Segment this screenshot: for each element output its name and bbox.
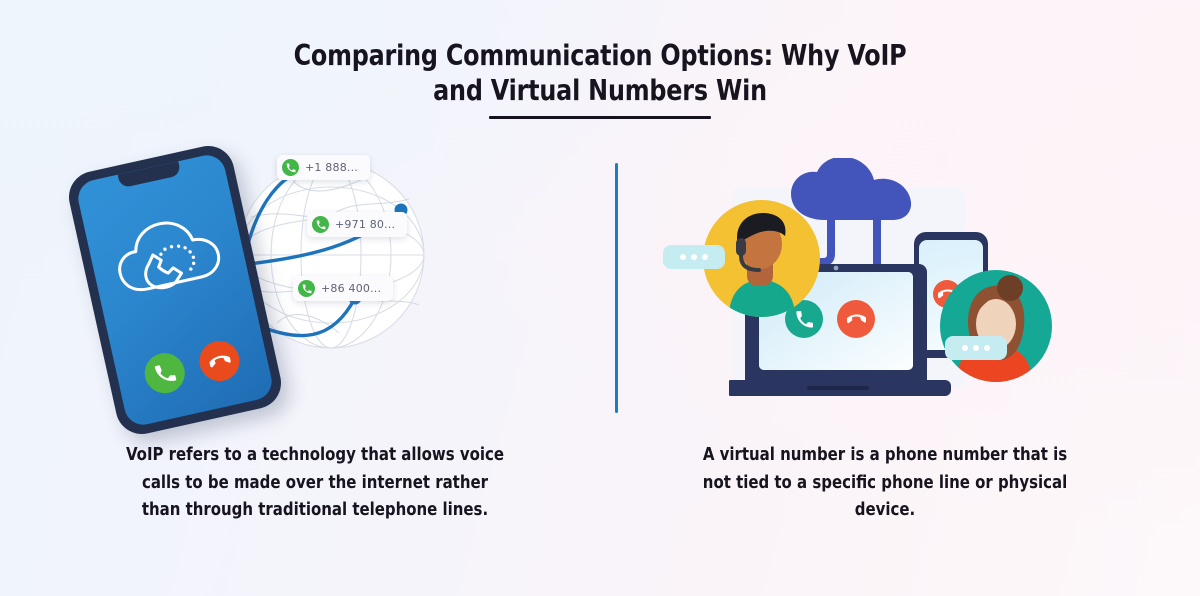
dot bbox=[962, 345, 968, 351]
cloud-devices-virtual-number-illustration bbox=[655, 150, 1115, 430]
panel-caption-virtual-number: A virtual number is a phone number that … bbox=[695, 442, 1075, 525]
panel-virtual-number: A virtual number is a phone number that … bbox=[655, 150, 1115, 560]
panel-caption-voip: VoIP refers to a technology that allows … bbox=[125, 442, 505, 525]
phone-handset-icon bbox=[795, 310, 814, 329]
dot bbox=[691, 254, 697, 260]
dot bbox=[702, 254, 708, 260]
phone-circle-icon bbox=[312, 216, 329, 233]
decline-call-button[interactable] bbox=[196, 337, 244, 385]
number-chip[interactable]: +86 400... bbox=[293, 276, 393, 301]
laptop-decline-call-button[interactable] bbox=[837, 300, 875, 338]
page-title: Comparing Communication Options: Why VoI… bbox=[0, 38, 1200, 119]
accept-call-button[interactable] bbox=[141, 349, 189, 397]
phone-circle-icon bbox=[282, 159, 299, 176]
dot bbox=[973, 345, 979, 351]
cloud-icon bbox=[791, 158, 911, 220]
customer-avatar-woman bbox=[940, 270, 1052, 382]
phone-hangup-icon bbox=[847, 310, 866, 329]
number-chip-label: +971 80... bbox=[335, 218, 395, 231]
number-chip[interactable]: +1 888... bbox=[277, 155, 370, 180]
panel-voip: +1 888... +971 80... +86 400... VoIP ref… bbox=[85, 150, 545, 560]
dot bbox=[984, 345, 990, 351]
call-action-buttons bbox=[115, 331, 270, 403]
page-title-line-1: Comparing Communication Options: Why VoI… bbox=[42, 38, 1158, 73]
page-title-line-2: and Virtual Numbers Win bbox=[42, 73, 1158, 108]
cloud-phone-icon bbox=[105, 207, 233, 315]
typing-dots-bubble bbox=[663, 245, 725, 269]
infographic-canvas: Comparing Communication Options: Why VoI… bbox=[0, 0, 1200, 596]
title-underline-rule bbox=[489, 116, 711, 119]
dot bbox=[680, 254, 686, 260]
smartphone-globe-voip-illustration: +1 888... +971 80... +86 400... bbox=[85, 150, 545, 430]
panel-divider bbox=[615, 163, 618, 413]
phone-circle-icon bbox=[298, 280, 315, 297]
phone-hangup-icon bbox=[207, 349, 232, 374]
number-chip-label: +86 400... bbox=[321, 282, 381, 295]
typing-dots-bubble bbox=[945, 336, 1007, 360]
phone-handset-icon bbox=[152, 361, 177, 386]
number-chip-label: +1 888... bbox=[305, 161, 358, 174]
number-chip[interactable]: +971 80... bbox=[307, 212, 407, 237]
